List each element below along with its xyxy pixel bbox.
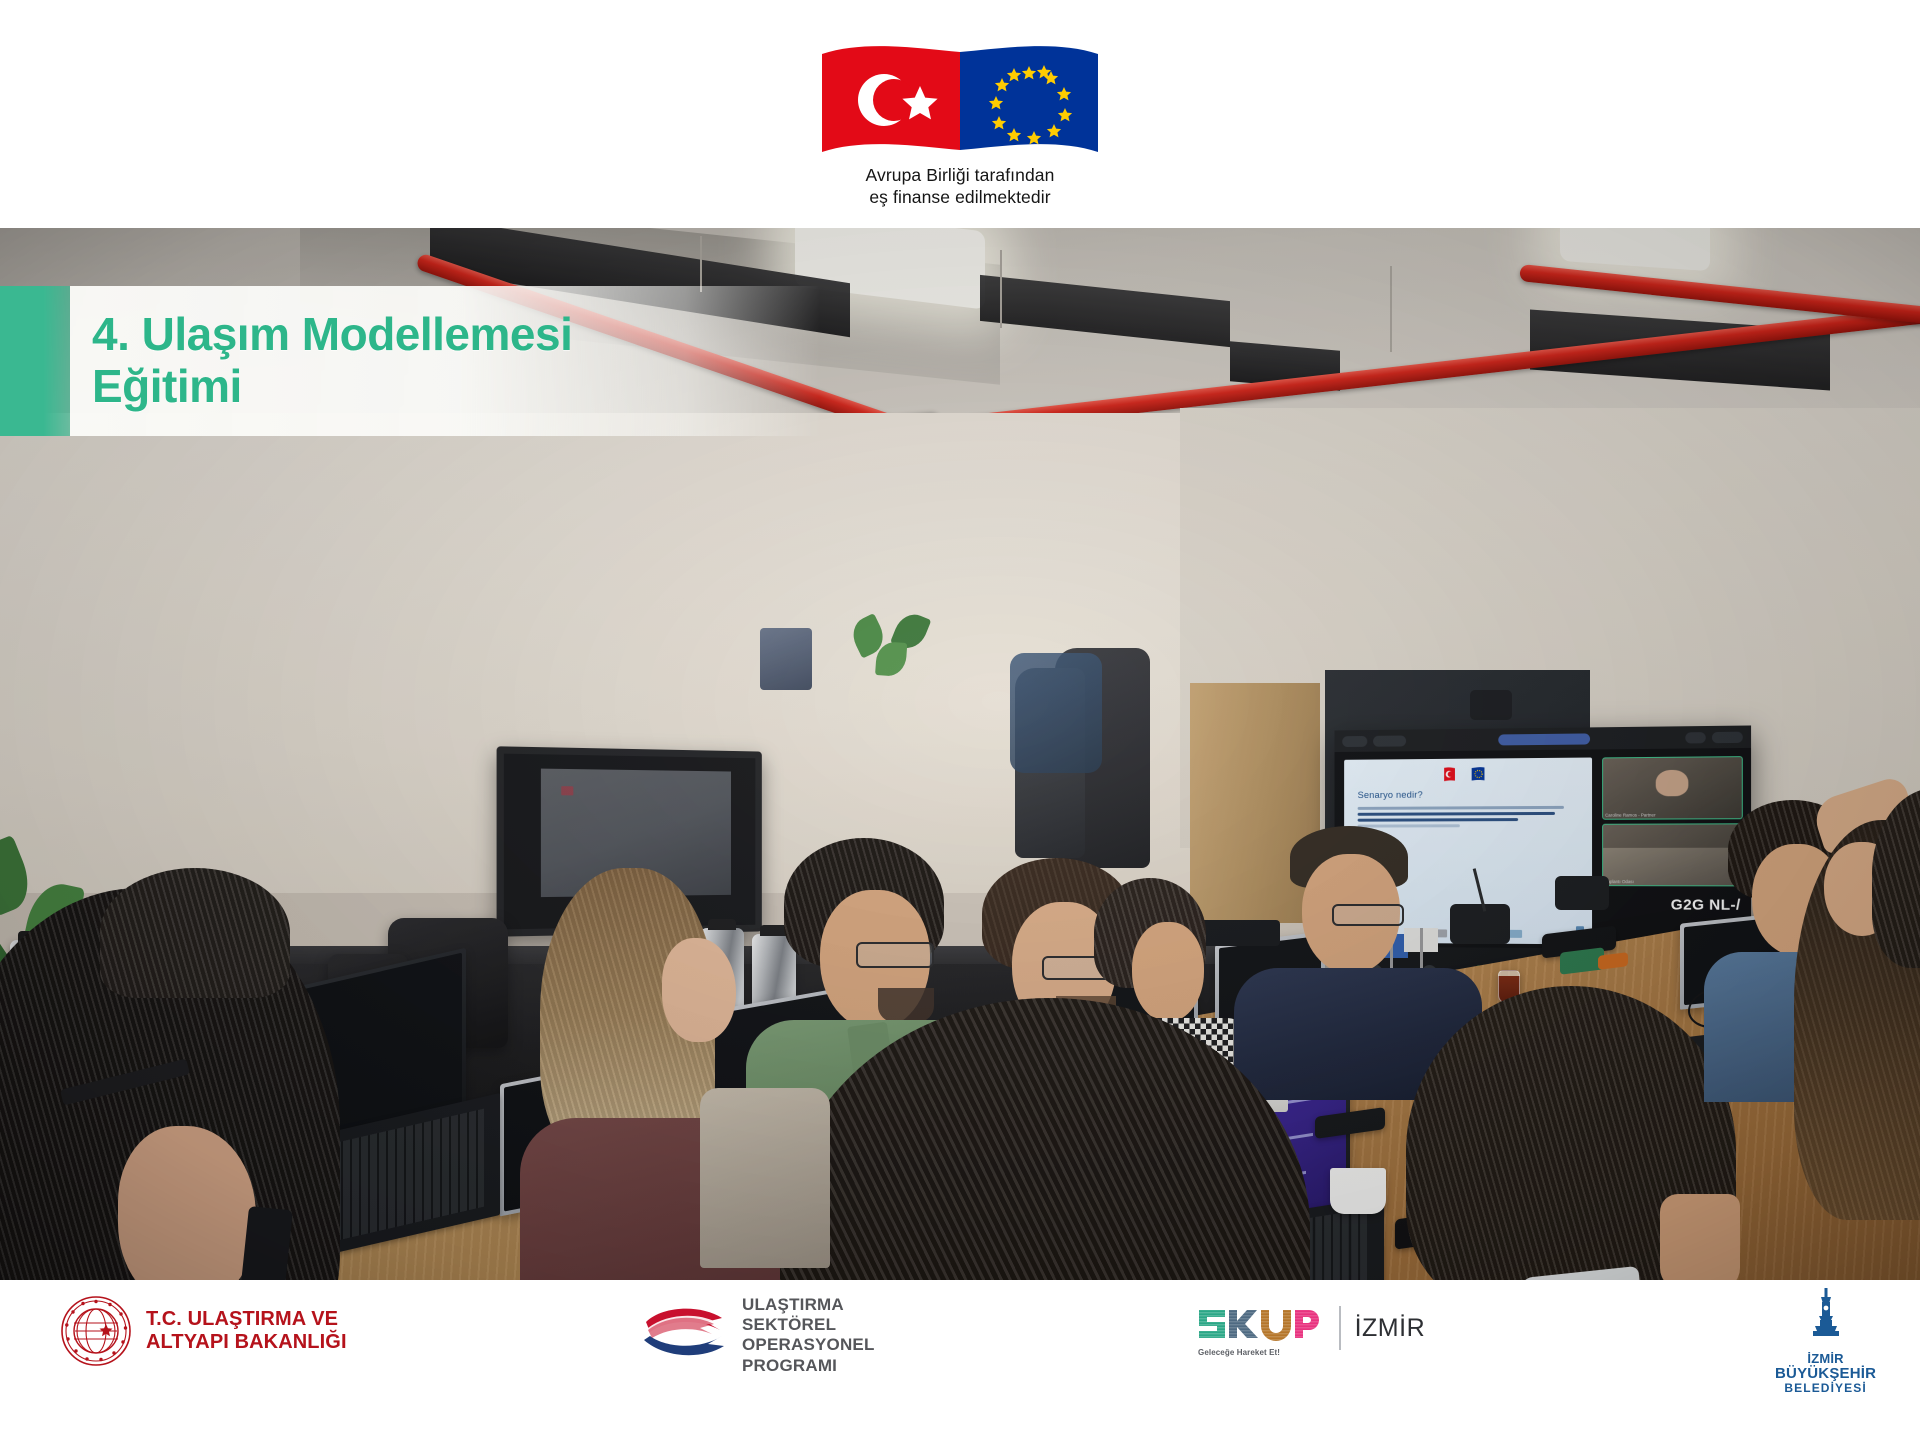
turkish-ministry-globe-emblem <box>60 1295 132 1367</box>
eu-cofunding-caption: Avrupa Birliği tarafından eş finanse edi… <box>866 164 1055 209</box>
turkey-eu-flag-pair <box>816 38 1104 160</box>
skup-logo: Geleceğe Hareket Et! İZMİR <box>1195 1300 1425 1356</box>
izmir-logo-line1: İZMİR <box>1775 1352 1876 1366</box>
hanging-backpack <box>1010 653 1102 773</box>
wall-camera-icon <box>1470 690 1512 720</box>
office-chair <box>700 1088 830 1268</box>
izmir-logo-line2: BÜYÜKŞEHİR <box>1775 1366 1876 1382</box>
meeting-topbar <box>1335 725 1752 752</box>
eu-cofunding-header: Avrupa Birliği tarafından eş finanse edi… <box>0 0 1920 228</box>
plant-top <box>855 610 933 682</box>
ceiling-hanger-2 <box>1000 250 1002 328</box>
izmir-clock-tower-icon <box>1805 1288 1847 1350</box>
ceiling-hanger <box>700 236 702 292</box>
skup-wordmark-wrap: Geleceğe Hareket Et! İZMİR <box>1195 1300 1425 1356</box>
flags-svg <box>816 38 1104 160</box>
banner-body: 4. Ulaşım Modellemesi Eğitimi <box>70 286 820 436</box>
izmir-logo-text: İZMİR BÜYÜKŞEHİR BELEDİYESİ <box>1775 1352 1876 1395</box>
ministry-of-transport-logo: T.C. ULAŞTIRMA VE ALTYAPI BAKANLIĞI <box>60 1295 347 1367</box>
ministry-logo-text: T.C. ULAŞTIRMA VE ALTYAPI BAKANLIĞI <box>146 1308 347 1354</box>
eu-caption-line1: Avrupa Birliği tarafından <box>866 164 1055 186</box>
person-far-right <box>1862 788 1920 1008</box>
ceiling-hanger-3 <box>1390 266 1392 352</box>
skup-divider <box>1339 1306 1341 1350</box>
izmir-municipality-logo: İZMİR BÜYÜKŞEHİR BELEDİYESİ <box>1775 1288 1876 1395</box>
skup-tagline: Geleceğe Hareket Et! <box>1198 1348 1280 1357</box>
slide-heading: Senaryo nedir? <box>1358 789 1582 801</box>
usop-logo: ULAŞTIRMA SEKTÖREL OPERASYONEL PROGRAMI <box>640 1295 875 1376</box>
participant-tile-label-2: Toplantı Odası <box>1605 879 1634 884</box>
slide-flag-pair <box>1354 766 1582 783</box>
glasses-3 <box>1332 904 1404 926</box>
slide-title-banner: 4. Ulaşım Modellemesi Eğitimi <box>0 286 820 436</box>
slide-paragraph <box>1358 806 1582 827</box>
glasses <box>856 942 934 968</box>
person-foreground-center <box>780 998 1350 1280</box>
banner-accent-edge <box>0 286 70 436</box>
person-behind-left <box>40 868 290 1028</box>
page-title: 4. Ulaşım Modellemesi Eğitimi <box>70 309 572 412</box>
skup-city-label: İZMİR <box>1355 1314 1426 1343</box>
phone-in-hand <box>239 1206 293 1280</box>
conference-microphone-2 <box>1555 876 1609 910</box>
izmir-logo-line3: BELEDİYESİ <box>1775 1382 1876 1395</box>
ear-neck <box>1660 1194 1740 1280</box>
usop-swoosh-arrows-icon <box>640 1302 728 1368</box>
skup-wordmark-icon: Geleceğe Hareket Et! <box>1195 1300 1325 1356</box>
participant-tile-label: Caroline Ramos - Partner <box>1605 812 1655 817</box>
eu-caption-line2: eş finanse edilmektedir <box>866 186 1055 208</box>
usop-logo-text: ULAŞTIRMA SEKTÖREL OPERASYONEL PROGRAMI <box>742 1295 875 1376</box>
wall-art <box>760 628 812 690</box>
